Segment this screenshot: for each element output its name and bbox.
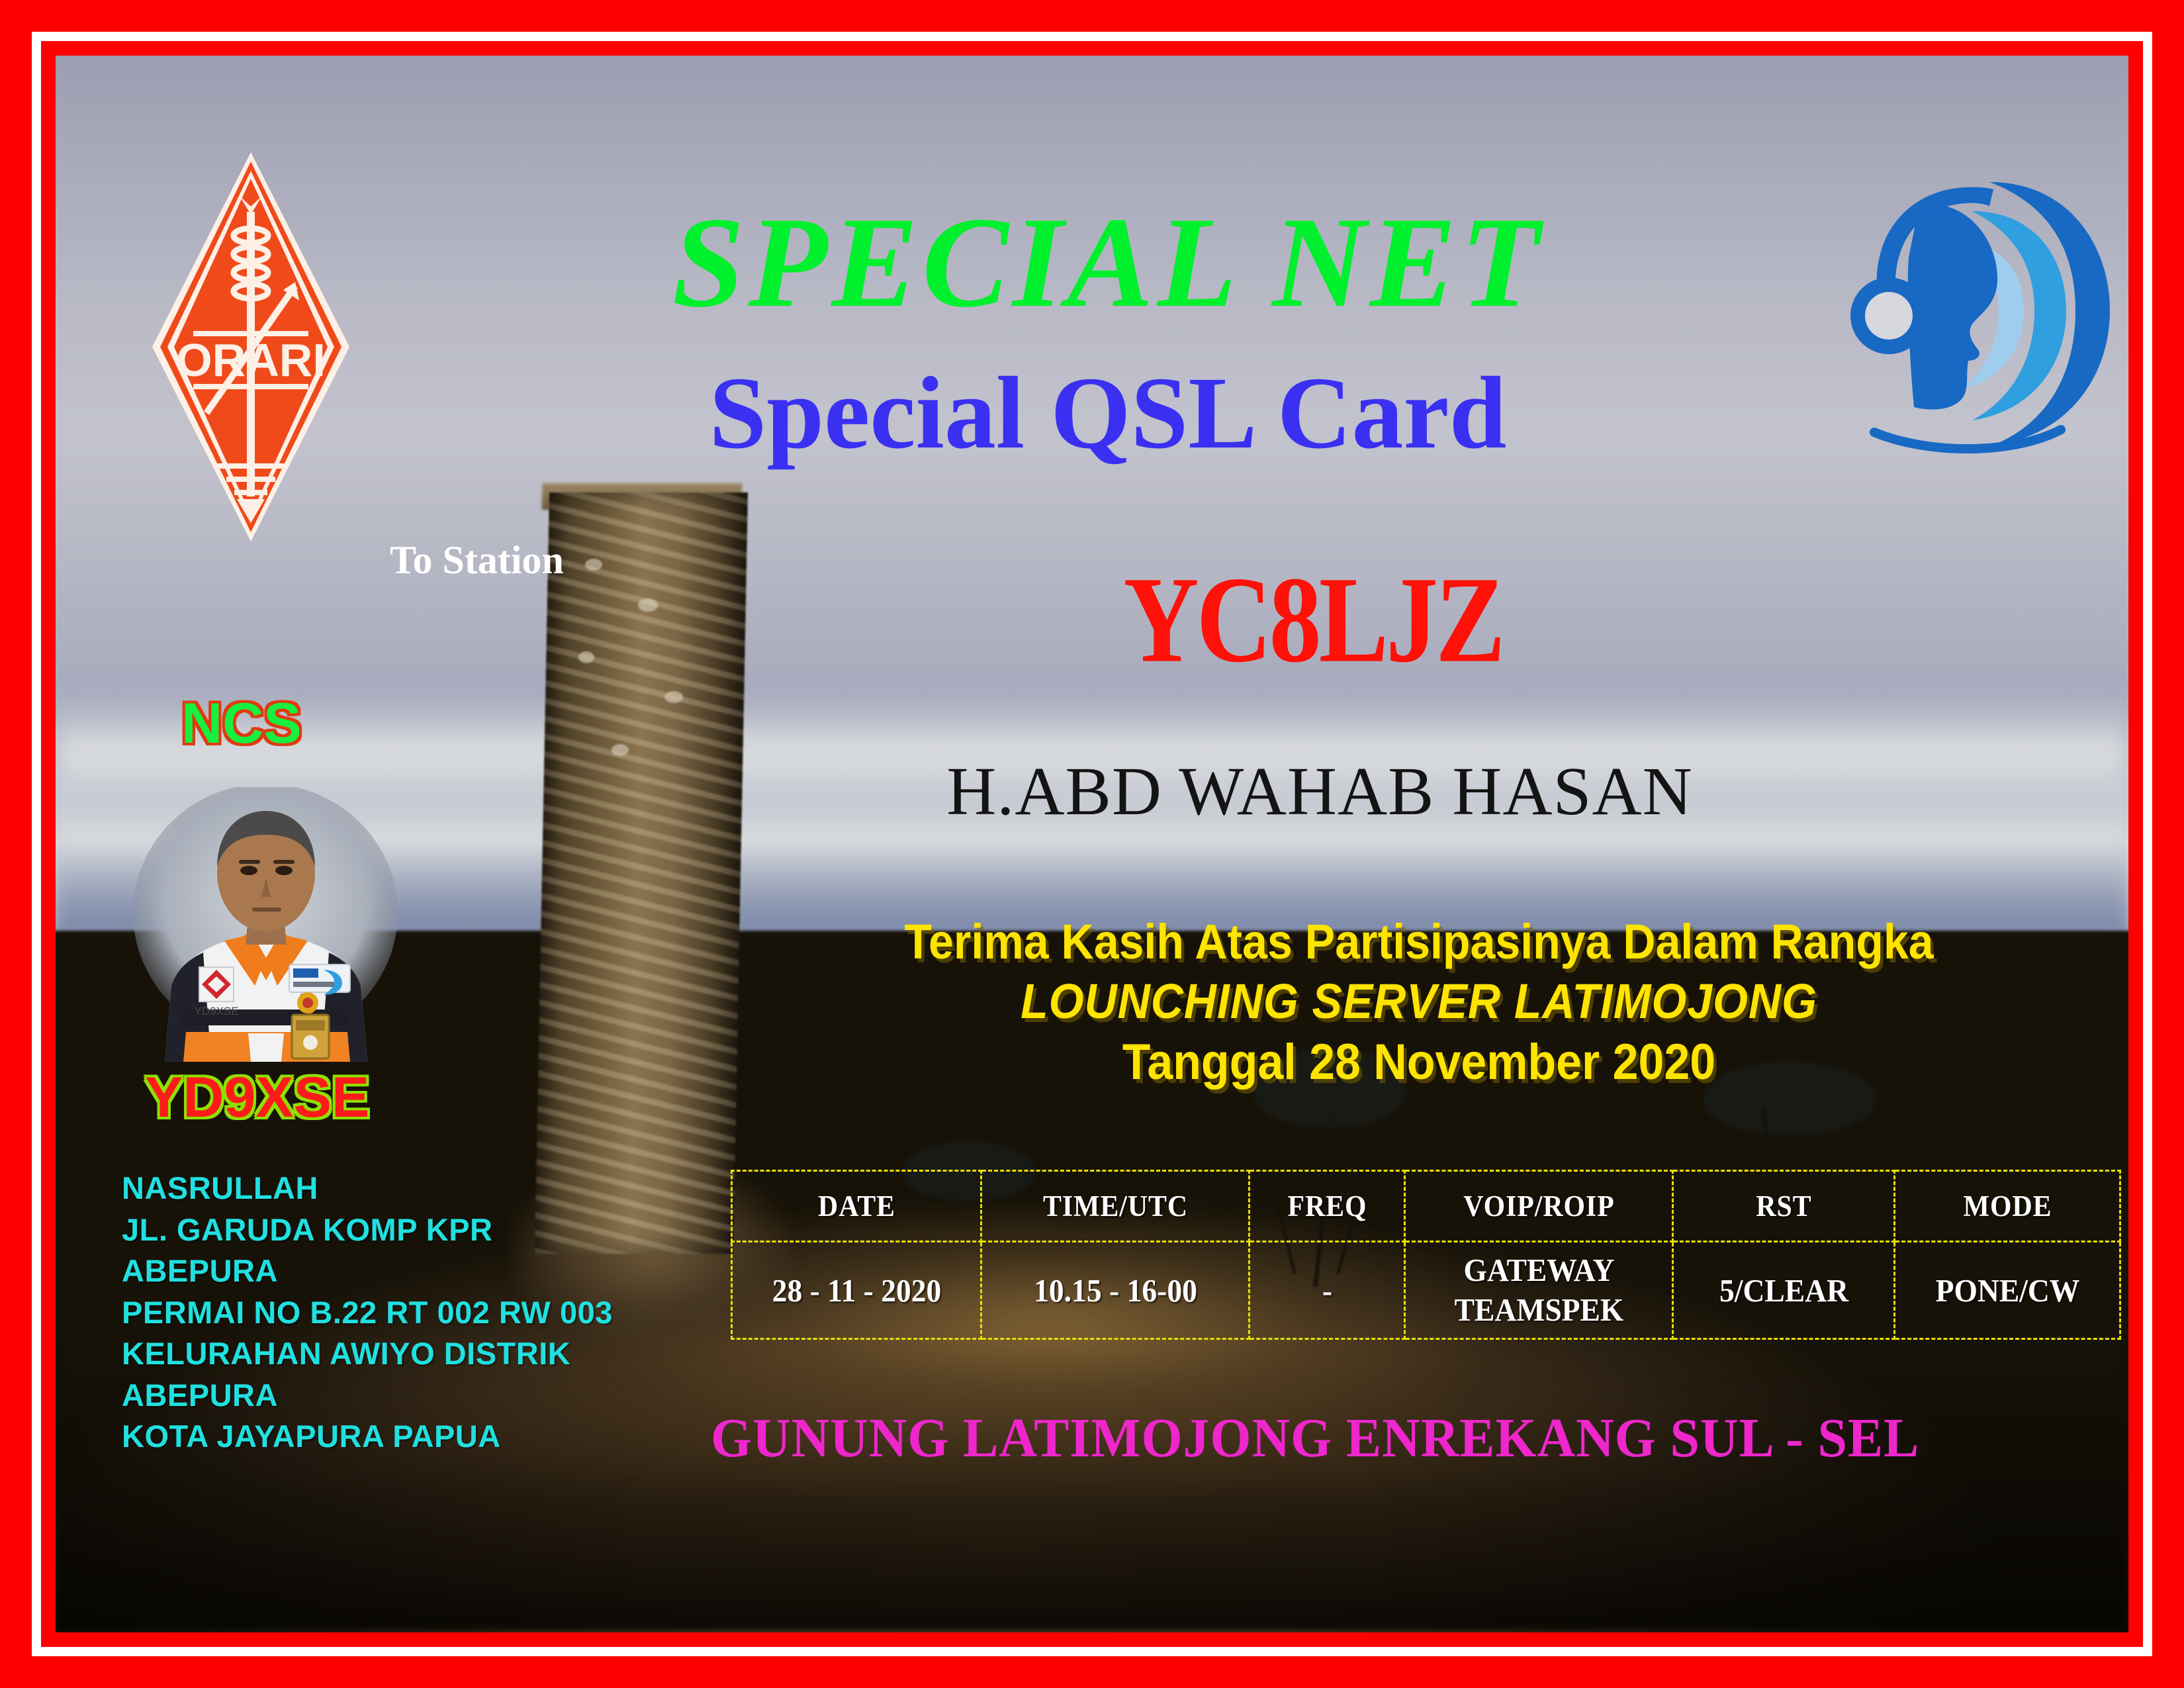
- address-line: KELURAHAN AWIYO DISTRIK: [122, 1333, 613, 1375]
- header-rst: RST: [1680, 1171, 1887, 1242]
- to-station-label: To Station: [390, 538, 564, 583]
- address-line: JL. GARUDA KOMP KPR: [122, 1209, 613, 1251]
- ncs-operator-photo: YD9XSE: [125, 787, 406, 1062]
- cell-freq: -: [1255, 1242, 1400, 1339]
- address-line: ABEPURA: [122, 1375, 613, 1417]
- ncs-callsign: YD9XSE: [145, 1065, 369, 1131]
- header-time: TIME/UTC: [991, 1171, 1240, 1242]
- mailing-address: NASRULLAH JL. GARUDA KOMP KPR ABEPURA PE…: [122, 1168, 613, 1458]
- table-row: 28 - 11 - 2020 10.15 - 16-00 - GATEWAY T…: [732, 1242, 2120, 1339]
- thanks-line-3-date: Tanggal 28 November 2020: [786, 1036, 2052, 1089]
- cell-voip-roip: GATEWAY TEAMSPEK: [1414, 1242, 1664, 1339]
- thanks-line-2-event: LOUNCHING SERVER LATIMOJONG: [786, 976, 2052, 1027]
- footer-motto: "AMATIR RADIO ADALAH PROGRESIVE": [132, 1626, 1125, 1632]
- cell-voip-line-2: TEAMSPEK: [1416, 1290, 1662, 1330]
- cell-mode: PONE/CW: [1902, 1242, 2112, 1339]
- qso-log-table: DATE TIME/UTC FREQ VOIP/ROIP RST MODE 28…: [731, 1170, 2121, 1340]
- card-photo-background: ORARI: [56, 56, 2128, 1632]
- header-date: DATE: [741, 1171, 973, 1242]
- address-line: NASRULLAH: [122, 1168, 613, 1209]
- headset-profile-logo: [1836, 165, 2114, 456]
- cell-rst: 5/CLEAR: [1680, 1242, 1887, 1339]
- header-mode: MODE: [1902, 1171, 2112, 1242]
- thanks-block: Terima Kasih Atas Partisipasinya Dalam R…: [786, 916, 2052, 1089]
- header-freq: FREQ: [1255, 1171, 1400, 1242]
- orari-logo-text: ORARI: [176, 334, 326, 386]
- operator-name: H.ABD WAHAB HASAN: [757, 757, 1882, 826]
- address-line: PERMAI NO B.22 RT 002 RW 003: [122, 1292, 613, 1334]
- location-caption: GUNUNG LATIMOJONG ENREKANG SUL - SEL: [711, 1406, 1919, 1470]
- station-callsign: YC8LJZ: [916, 559, 1710, 682]
- address-line: KOTA JAYAPURA PAPUA: [122, 1416, 613, 1458]
- cell-date: 28 - 11 - 2020: [741, 1242, 973, 1339]
- heading-special-qsl-card: Special QSL Card: [479, 361, 1737, 465]
- ncs-label: NCS: [181, 691, 302, 757]
- orari-logo: ORARI: [148, 148, 353, 545]
- heading-special-net: SPECIAL NET: [479, 198, 1737, 328]
- address-line: ABEPURA: [122, 1250, 613, 1292]
- table-header-row: DATE TIME/UTC FREQ VOIP/ROIP RST MODE: [732, 1171, 2120, 1242]
- thanks-line-1: Terima Kasih Atas Partisipasinya Dalam R…: [786, 916, 2052, 968]
- uniform-callsign-text: YD9XSE: [194, 1005, 238, 1017]
- header-voip-roip: VOIP/ROIP: [1414, 1171, 1664, 1242]
- content-layer: ORARI: [56, 56, 2128, 1632]
- qsl-card: ORARI: [0, 0, 2184, 1688]
- cell-voip-line-1: GATEWAY: [1416, 1250, 1662, 1290]
- cell-time: 10.15 - 16-00: [991, 1242, 1240, 1339]
- footer-web-address: Address : amatir.latimojong.com: [1316, 1623, 2021, 1632]
